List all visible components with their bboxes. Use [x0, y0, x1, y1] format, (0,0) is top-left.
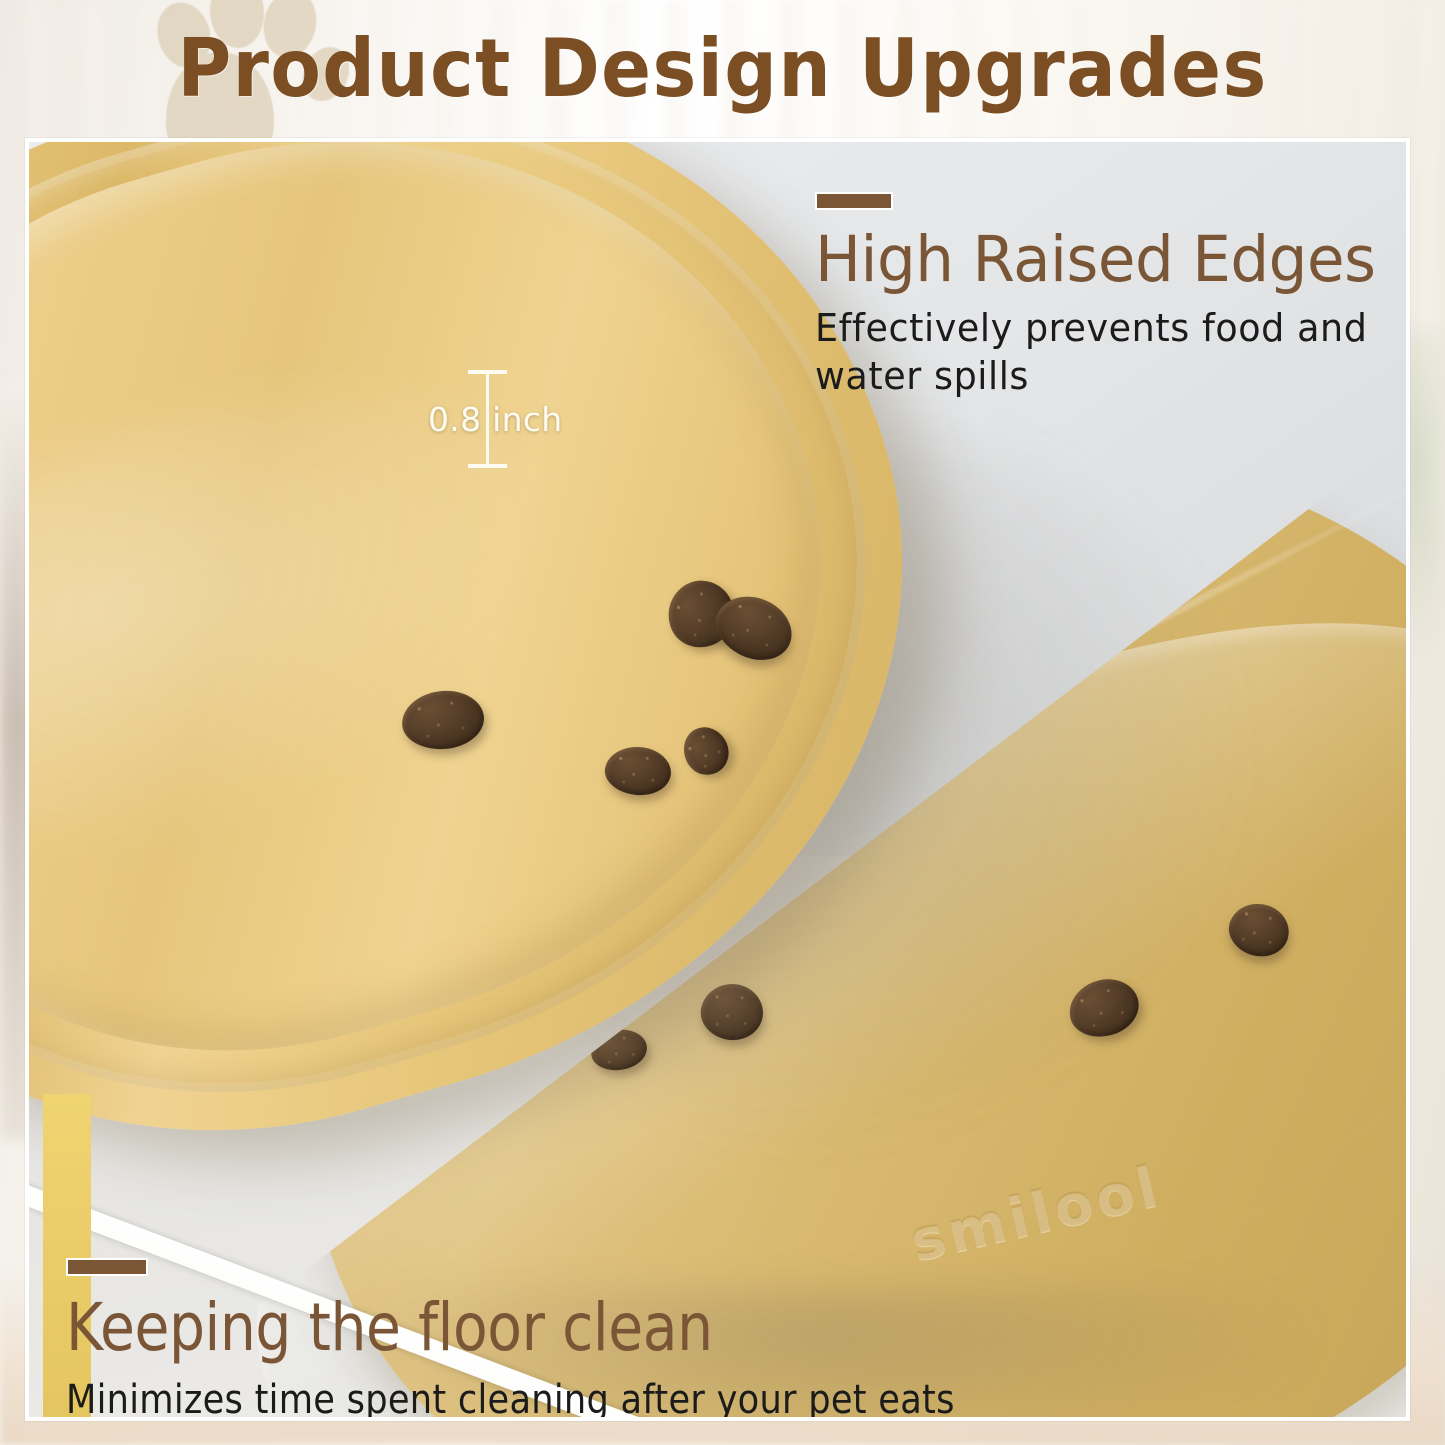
dimension-cap-bottom [468, 464, 507, 468]
product-photo-composite: smilool [29, 142, 1406, 1417]
callout-subtitle: Minimizes time spent cleaning after your… [66, 1374, 1052, 1417]
header-band: Product Design Upgrades [0, 0, 1445, 138]
callout-keeping-floor-clean: Keeping the floor clean Minimizes time s… [66, 1258, 1186, 1417]
accent-bar [815, 192, 893, 210]
dimension-label: 0.8 inch [428, 400, 563, 439]
product-infographic: Product Design Upgrades smilool [0, 0, 1445, 1445]
dimension-annotation: 0.8 inch [438, 364, 550, 476]
accent-bar [66, 1258, 148, 1276]
page-title: Product Design Upgrades [58, 26, 1387, 112]
callout-high-raised-edges: High Raised Edges Effectively prevents f… [815, 192, 1406, 400]
callout-title: Keeping the floor clean [66, 1288, 1029, 1368]
callout-subtitle: Effectively prevents food and water spil… [815, 304, 1391, 400]
callout-title: High Raised Edges [815, 222, 1397, 298]
photo-frame: smilool [25, 138, 1410, 1421]
